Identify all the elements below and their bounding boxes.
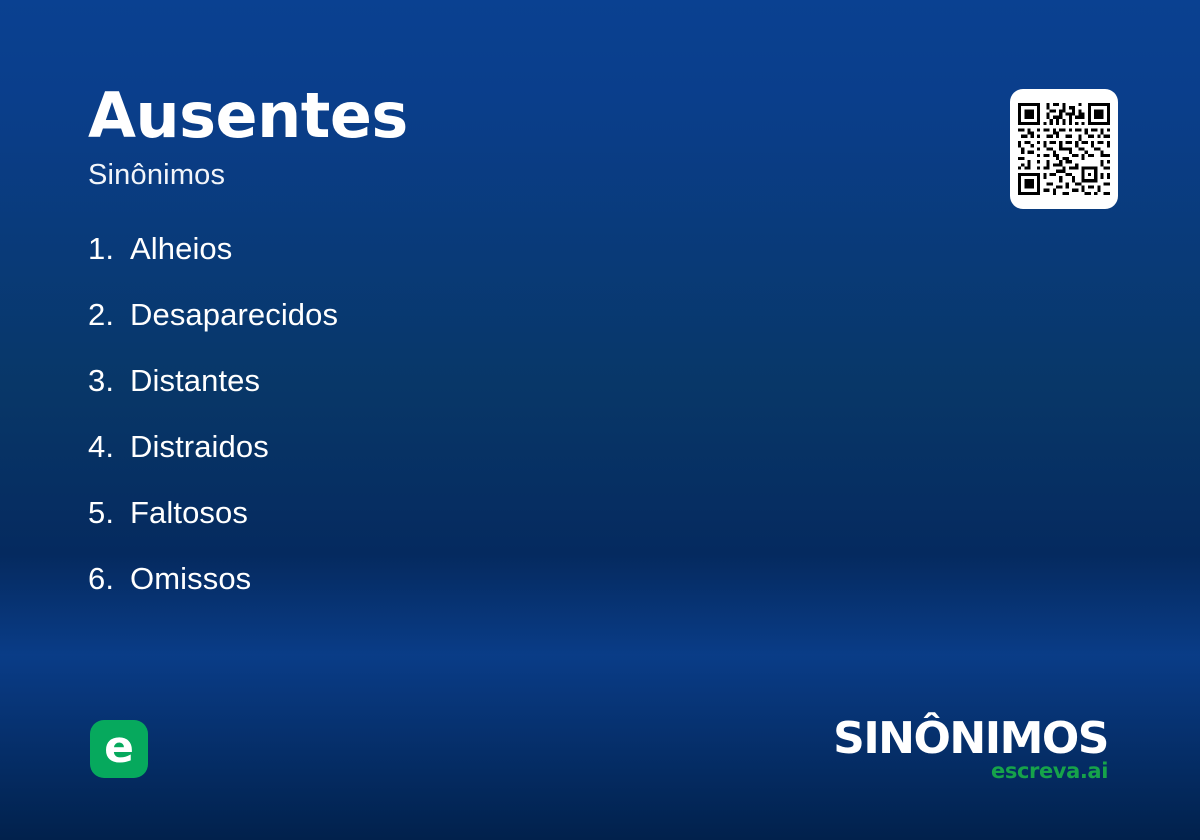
- list-item: 3. Distantes: [88, 365, 908, 431]
- escreva-badge-letter: e: [104, 726, 134, 770]
- brand-logo: SINÔNIMOS escreva.ai: [833, 718, 1108, 782]
- brand-name: SINÔNIMOS: [833, 718, 1108, 760]
- list-item-label: Distantes: [130, 365, 260, 396]
- qr-code-icon: [1018, 103, 1110, 195]
- synonyms-card: Ausentes Sinônimos: [0, 0, 1200, 840]
- synonyms-list: 1. Alheios 2. Desaparecidos 3. Distantes…: [88, 233, 908, 629]
- page-title: Ausentes: [88, 84, 848, 148]
- list-item-index: 1.: [88, 233, 130, 264]
- list-item: 1. Alheios: [88, 233, 908, 299]
- list-item: 2. Desaparecidos: [88, 299, 908, 365]
- list-item-label: Alheios: [130, 233, 232, 264]
- list-item-index: 4.: [88, 431, 130, 462]
- list-item-label: Desaparecidos: [130, 299, 338, 330]
- escreva-e-logo-icon[interactable]: e: [90, 720, 148, 778]
- list-item-index: 6.: [88, 563, 130, 594]
- list-item-label: Faltosos: [130, 497, 248, 528]
- list-item-label: Omissos: [130, 563, 251, 594]
- list-item-index: 2.: [88, 299, 130, 330]
- list-item-label: Distraidos: [130, 431, 269, 462]
- qr-code-container[interactable]: [1010, 89, 1118, 209]
- list-item-index: 5.: [88, 497, 130, 528]
- list-item: 4. Distraidos: [88, 431, 908, 497]
- header: Ausentes Sinônimos: [88, 84, 848, 192]
- list-item-index: 3.: [88, 365, 130, 396]
- list-item: 6. Omissos: [88, 563, 908, 629]
- brand-tagline: escreva.ai: [833, 761, 1108, 782]
- page-subtitle: Sinônimos: [88, 160, 848, 192]
- list-item: 5. Faltosos: [88, 497, 908, 563]
